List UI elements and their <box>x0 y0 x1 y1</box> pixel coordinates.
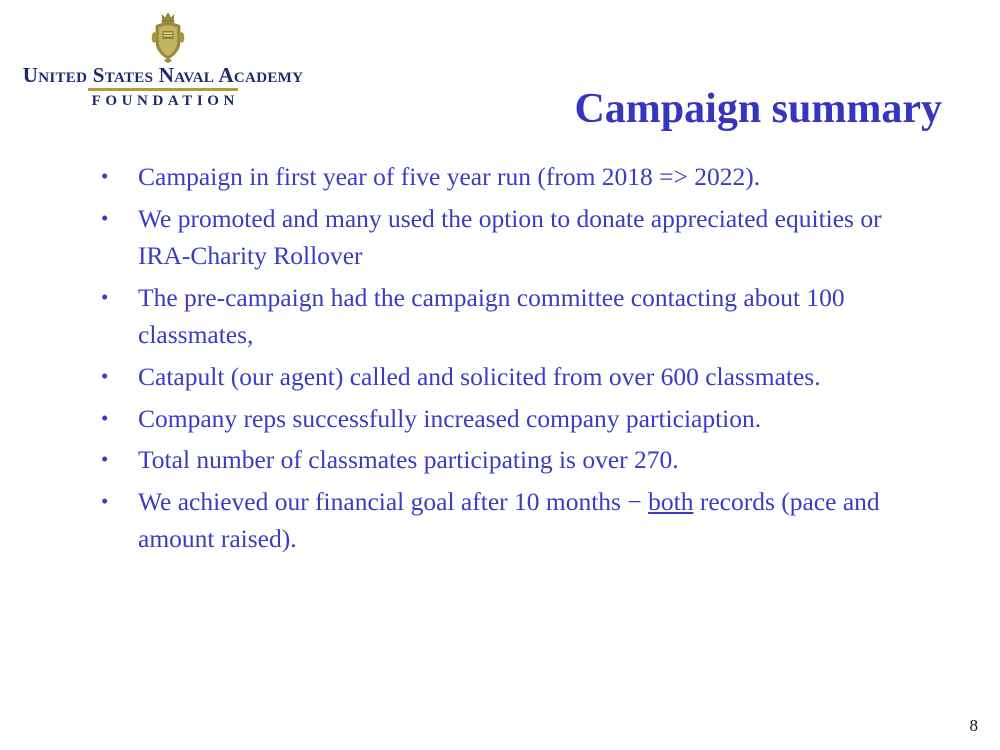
bullet-text: The pre-campaign had the campaign commit… <box>138 283 845 350</box>
bullet-company-reps: •Company reps successfully increased com… <box>96 400 908 438</box>
naval-academy-crest-icon <box>144 12 192 64</box>
bullet-dot-icon: • <box>101 158 115 196</box>
bullet-text: Catapult (our agent) called and solicite… <box>138 362 821 391</box>
bullet-dot-icon: • <box>101 358 115 396</box>
logo-gold-rule <box>88 88 238 91</box>
bullet-text-run: Total number of classmates participating… <box>138 445 679 474</box>
bullet-text-run: Catapult (our agent) called and solicite… <box>138 362 821 391</box>
bullet-financial-goal: •We achieved our financial goal after 10… <box>96 483 908 558</box>
bullet-dot-icon: • <box>101 400 115 438</box>
page-number: 8 <box>970 716 979 736</box>
logo-line-naval-academy: United States Naval Academy <box>8 64 318 86</box>
bullet-dot-icon: • <box>101 200 115 238</box>
bullet-dot-icon: • <box>101 483 115 521</box>
bullet-total-participating: •Total number of classmates participatin… <box>96 441 908 479</box>
bullet-dot-icon: • <box>101 279 115 317</box>
bullet-text-run: The pre-campaign had the campaign commit… <box>138 283 845 350</box>
bullet-text: Total number of classmates participating… <box>138 445 679 474</box>
slide-canvas: United States Naval Academy FOUNDATION C… <box>0 0 1000 750</box>
bullet-list: •Campaign in first year of five year run… <box>96 158 908 562</box>
page-title: Campaign summary <box>460 85 942 133</box>
bullet-text-run: Company reps successfully increased comp… <box>138 404 761 433</box>
bullet-text: We achieved our financial goal after 10 … <box>138 487 880 554</box>
bullet-text-run: We achieved our financial goal after 10 … <box>138 487 648 516</box>
bullet-text-run: We promoted and many used the option to … <box>138 204 882 271</box>
logo-line-foundation: FOUNDATION <box>8 92 318 110</box>
bullet-text: Company reps successfully increased comp… <box>138 404 761 433</box>
bullet-text-run: Campaign in first year of five year run … <box>138 162 760 191</box>
bullet-campaign-year: •Campaign in first year of five year run… <box>96 158 908 196</box>
bullet-text: We promoted and many used the option to … <box>138 204 882 271</box>
bullet-text: Campaign in first year of five year run … <box>138 162 760 191</box>
bullet-emphasis: both <box>648 487 693 516</box>
bullet-pre-campaign: •The pre-campaign had the campaign commi… <box>96 279 908 354</box>
bullet-catapult: •Catapult (our agent) called and solicit… <box>96 358 908 396</box>
usna-foundation-logo: United States Naval Academy FOUNDATION <box>8 8 318 108</box>
bullet-dot-icon: • <box>101 441 115 479</box>
bullet-appreciated-equities: •We promoted and many used the option to… <box>96 200 908 275</box>
